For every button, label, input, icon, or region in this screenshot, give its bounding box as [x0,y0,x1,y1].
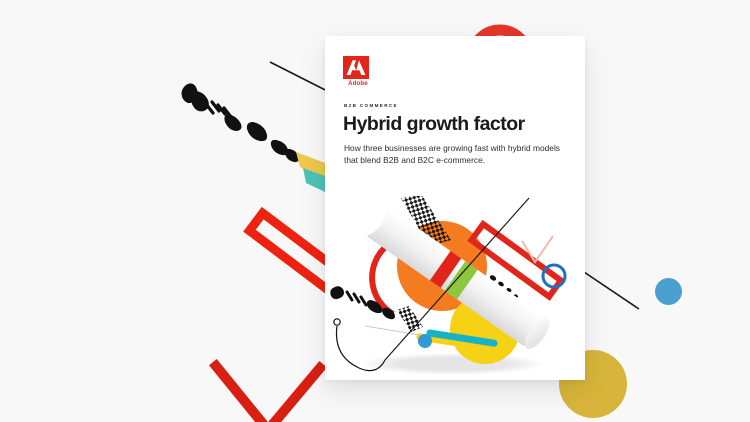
adobe-a-logo-icon [343,56,369,79]
card-headline: Hybrid growth factor [343,114,571,136]
adobe-logo: Adobe [343,56,373,87]
hero-stage: Adobe B2B COMMERCE Hybrid growth factor … [0,0,750,422]
card-subhead: How three businesses are growing fast wi… [344,142,569,166]
thin-diagonal-line-right-shape [584,272,639,309]
red-chevron-bottom-shape [216,366,320,422]
striped-mini-stroke [330,286,395,319]
adobe-wordmark: Adobe [343,81,373,87]
striped-brush-stroke-shape [182,83,306,166]
card-eyebrow: B2B COMMERCE [344,104,398,109]
blue-dot [418,334,432,348]
cover-artwork [325,196,585,380]
checkered-ribbon-small [397,306,423,332]
report-cover-card[interactable]: Adobe B2B COMMERCE Hybrid growth factor … [325,36,585,380]
